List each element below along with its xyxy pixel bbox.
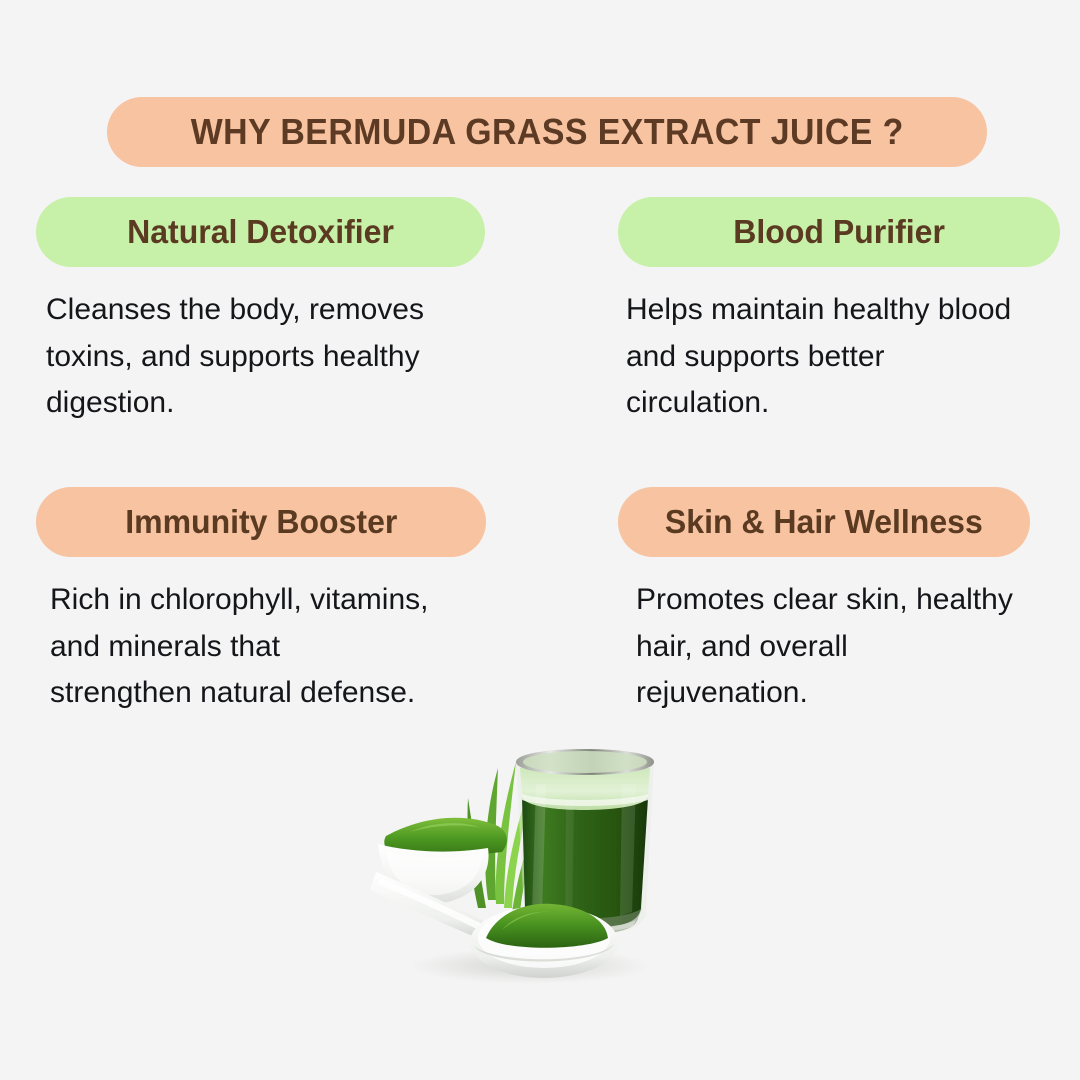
benefit-description: Promotes clear skin, healthy hair, and o… [636, 577, 1030, 717]
benefit-description: Helps maintain healthy blood and support… [626, 287, 1080, 427]
benefit-heading-pill: Immunity Booster [36, 487, 486, 557]
benefit-heading-pill: Blood Purifier [618, 197, 1060, 267]
green-juice-glass-photo [370, 740, 680, 990]
benefit-heading-label: Skin & Hair Wellness [665, 503, 983, 541]
benefit-heading-label: Immunity Booster [125, 503, 397, 541]
benefit-card-immunity-booster: Immunity Booster Rich in chlorophyll, vi… [36, 487, 486, 717]
page-title-banner: WHY BERMUDA GRASS EXTRACT JUICE ? [107, 97, 987, 167]
benefit-card-natural-detoxifier: Natural Detoxifier Cleanses the body, re… [36, 197, 485, 427]
infographic-canvas: WHY BERMUDA GRASS EXTRACT JUICE ? Natura… [0, 0, 1080, 1080]
benefit-description: Cleanses the body, removes toxins, and s… [46, 287, 485, 427]
benefit-heading-pill: Natural Detoxifier [36, 197, 485, 267]
benefit-heading-label: Blood Purifier [733, 213, 945, 251]
benefit-card-blood-purifier: Blood Purifier Helps maintain healthy bl… [618, 197, 1080, 427]
benefit-card-skin-and-hair-wellness: Skin & Hair Wellness Promotes clear skin… [618, 487, 1030, 717]
benefit-heading-label: Natural Detoxifier [127, 213, 394, 251]
benefit-description: Rich in chlorophyll, vitamins, and miner… [50, 577, 486, 717]
page-title: WHY BERMUDA GRASS EXTRACT JUICE ? [190, 111, 903, 153]
benefit-heading-pill: Skin & Hair Wellness [618, 487, 1030, 557]
